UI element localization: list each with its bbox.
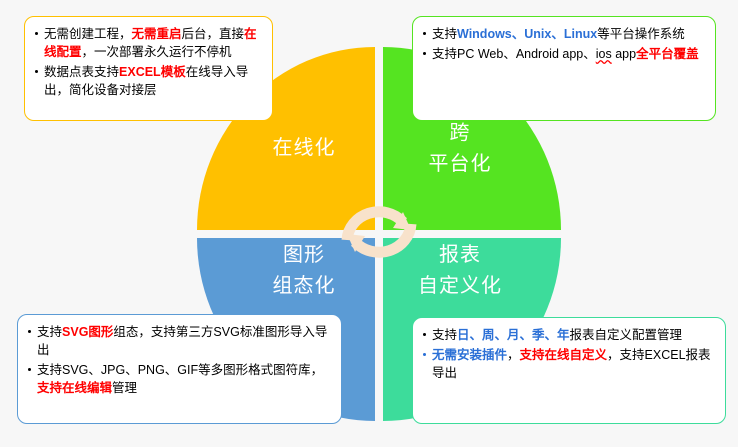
- callout-graphics-list: 支持SVG图形组态，支持第三方SVG标准图形导入导出支持SVG、JPG、PNG、…: [26, 323, 331, 397]
- text-run: ios: [596, 47, 612, 61]
- callout-online: 无需创建工程，无需重启后台，直接在线配置，一次部署永久运行不停机数据点表支持EX…: [24, 16, 273, 121]
- text-run: Windows、Unix、Linux: [457, 27, 597, 41]
- text-run: 数据点表支持: [44, 65, 119, 79]
- text-run: 支持: [432, 328, 457, 342]
- text-run: 无需创建工程，: [44, 27, 132, 41]
- text-run: 日、周、月、季、年: [457, 328, 570, 342]
- list-item: 支持Windows、Unix、Linux等平台操作系统: [421, 25, 705, 43]
- text-run: 支持: [37, 325, 62, 339]
- text-run: 全平台覆盖: [636, 47, 699, 61]
- text-run: 无需重启: [132, 27, 182, 41]
- text-run: ，一次部署永久运行不停机: [82, 45, 232, 59]
- callout-report-list: 支持日、周、月、季、年报表自定义配置管理无需安装插件，支持在线自定义，支持EXC…: [421, 326, 715, 382]
- text-run: 无需安装插件: [432, 348, 507, 362]
- text-run: 后台，直接: [182, 27, 245, 41]
- text-run: EXCEL模板: [119, 65, 186, 79]
- callout-graphics: 支持SVG图形组态，支持第三方SVG标准图形导入导出支持SVG、JPG、PNG、…: [17, 314, 342, 424]
- text-run: 等平台操作系统: [597, 27, 685, 41]
- text-run: 管理: [112, 381, 137, 395]
- text-run: 支持在线编辑: [37, 381, 112, 395]
- list-item: 支持PC Web、Android app、ios app全平台覆盖: [421, 45, 705, 63]
- text-run: SVG图形: [62, 325, 113, 339]
- text-run: 支持PC Web、Android app、: [432, 47, 596, 61]
- list-item: 支持日、周、月、季、年报表自定义配置管理: [421, 326, 715, 344]
- text-run: ，: [507, 348, 520, 362]
- text-run: app: [612, 47, 636, 61]
- callout-report: 支持日、周、月、季、年报表自定义配置管理无需安装插件，支持在线自定义，支持EXC…: [412, 317, 726, 424]
- text-run: 支持: [432, 27, 457, 41]
- list-item: 支持SVG图形组态，支持第三方SVG标准图形导入导出: [26, 323, 331, 359]
- callout-online-list: 无需创建工程，无需重启后台，直接在线配置，一次部署永久运行不停机数据点表支持EX…: [33, 25, 262, 99]
- text-run: 支持SVG、JPG、PNG、GIF等多图形格式图符库，: [37, 363, 323, 377]
- text-run: 报表自定义配置管理: [570, 328, 683, 342]
- list-item: 无需创建工程，无需重启后台，直接在线配置，一次部署永久运行不停机: [33, 25, 262, 61]
- list-item: 支持SVG、JPG、PNG、GIF等多图形格式图符库，支持在线编辑管理: [26, 361, 331, 397]
- callout-crossplat: 支持Windows、Unix、Linux等平台操作系统支持PC Web、Andr…: [412, 16, 716, 121]
- list-item: 无需安装插件，支持在线自定义，支持EXCEL报表导出: [421, 346, 715, 382]
- callout-crossplat-list: 支持Windows、Unix、Linux等平台操作系统支持PC Web、Andr…: [421, 25, 705, 63]
- text-run: 支持在线自定义: [520, 348, 608, 362]
- list-item: 数据点表支持EXCEL模板在线导入导出，简化设备对接层: [33, 63, 262, 99]
